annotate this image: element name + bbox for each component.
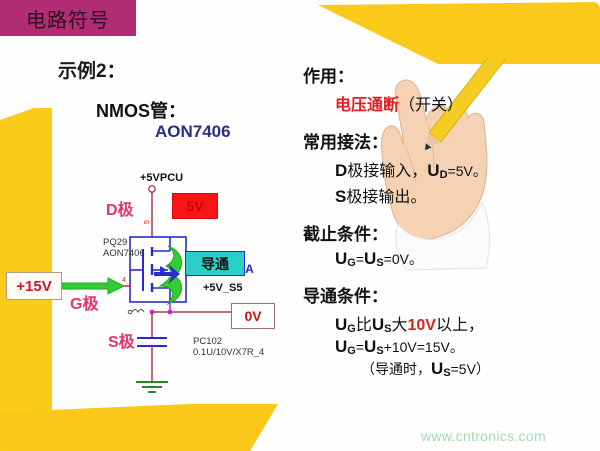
conduct3-value: =5V） [451,361,490,377]
cutoff-value: =0V。 [384,251,423,267]
conduct-line-1: UG比US大10V以上， [303,311,593,335]
conduct-compare-word: 比 [356,317,372,334]
conduct2-eq: = [356,339,364,355]
conduct-threshold: 10V [408,317,436,334]
conduct-ug-u: U [335,315,347,334]
usage-d-symbol: D [335,161,347,180]
cutoff-eq1: = [356,251,364,267]
usage-line1-value: =5V。 [448,163,487,179]
junction-dot-net [168,310,173,315]
drain-voltage-box: 5V [172,193,218,219]
gate-label: G极 [70,290,98,314]
cutoff-line-1: UG=US=0V。 [303,249,593,269]
cap-refdes-label: PC102 [193,336,222,347]
pin-number-4: 4 [122,277,126,284]
conduct2-us-u: U [364,337,376,356]
usage-u-subscript: D [440,169,448,181]
usage-line-2: S极接输出。 [303,183,593,207]
section-function: 作用： 电压通断（开关） [303,62,593,115]
usage-line1-text: 极接输入， [347,163,427,180]
site-watermark: www.cntronics.com [421,428,546,444]
section-usage: 常用接法： D极接输入，UD=5V。 S极接输出。 [303,128,593,207]
refpart-label: AON7406 [103,248,145,259]
explanation-column: 作用： 电压通断（开关） 常用接法： D极接输入，UD=5V。 S极接输出。 截… [303,62,593,392]
section-cutoff: 截止条件： UG=US=0V。 [303,220,593,269]
slide-canvas: 电路符号 示例2： NMOS管： AON7406 5 [0,0,600,451]
conduct2-ug-u: U [335,337,347,356]
cutoff-us-u: U [364,249,376,268]
conduct2-us-sub: S [376,345,383,357]
function-value: 电压通断 [335,97,399,114]
source-coil-terminal [128,310,132,314]
pin-number-5: 5 [144,220,151,224]
conduct-bigger-word: 大 [391,317,407,334]
usage-line2-text: 极接输出。 [346,189,426,206]
cap-value-label: 0.1U/10V/X7R_4 [193,347,264,358]
gate-voltage-box: +15V [6,272,62,300]
usage-u-symbol: U [427,161,439,180]
refdes-label: PQ29 [103,237,127,248]
cutoff-us-sub: S [376,257,383,269]
cutoff-heading: 截止条件： [303,220,593,245]
section-conduct: 导通条件： UG比US大10V以上， UG=US+10V=15V。 （导通时，U… [303,282,593,379]
cutoff-ug-sub: G [347,257,356,269]
source-voltage-box: 0V [231,303,275,329]
source-coil-symbol [132,310,144,313]
conduct3-us-sub: S [443,367,450,379]
conduct-line-2: UG=US+10V=15V。 [303,337,593,357]
conduct-ug-sub: G [347,323,356,335]
net-label: +5V_S5 [203,282,242,294]
cutoff-ug-u: U [335,249,347,268]
usage-heading: 常用接法： [303,128,593,153]
rail-label: +5VPCU [140,172,183,184]
source-label: S极 [108,328,135,352]
conduct3-us-u: U [431,359,443,378]
conduct2-ug-sub: G [347,345,356,357]
drain-label: D极 [106,196,134,220]
conduct-line1-tail: 以上， [436,317,484,334]
function-heading: 作用： [303,62,593,87]
usage-s-symbol: S [335,187,346,206]
conduct-line-3: （导通时，US=5V） [303,359,593,379]
state-badge: 导通 [185,251,245,276]
conduct-us-u: U [372,315,384,334]
conduct2-value: +10V=15V。 [384,339,464,355]
conduct3-prefix: （导通时， [361,361,431,377]
function-paren: （开关） [399,97,463,114]
usage-line-1: D极接输入，UD=5V。 [303,157,593,181]
conduct-heading: 导通条件： [303,282,593,307]
rail-node-marker [149,186,155,192]
function-value-line: 电压通断（开关） [303,91,593,115]
